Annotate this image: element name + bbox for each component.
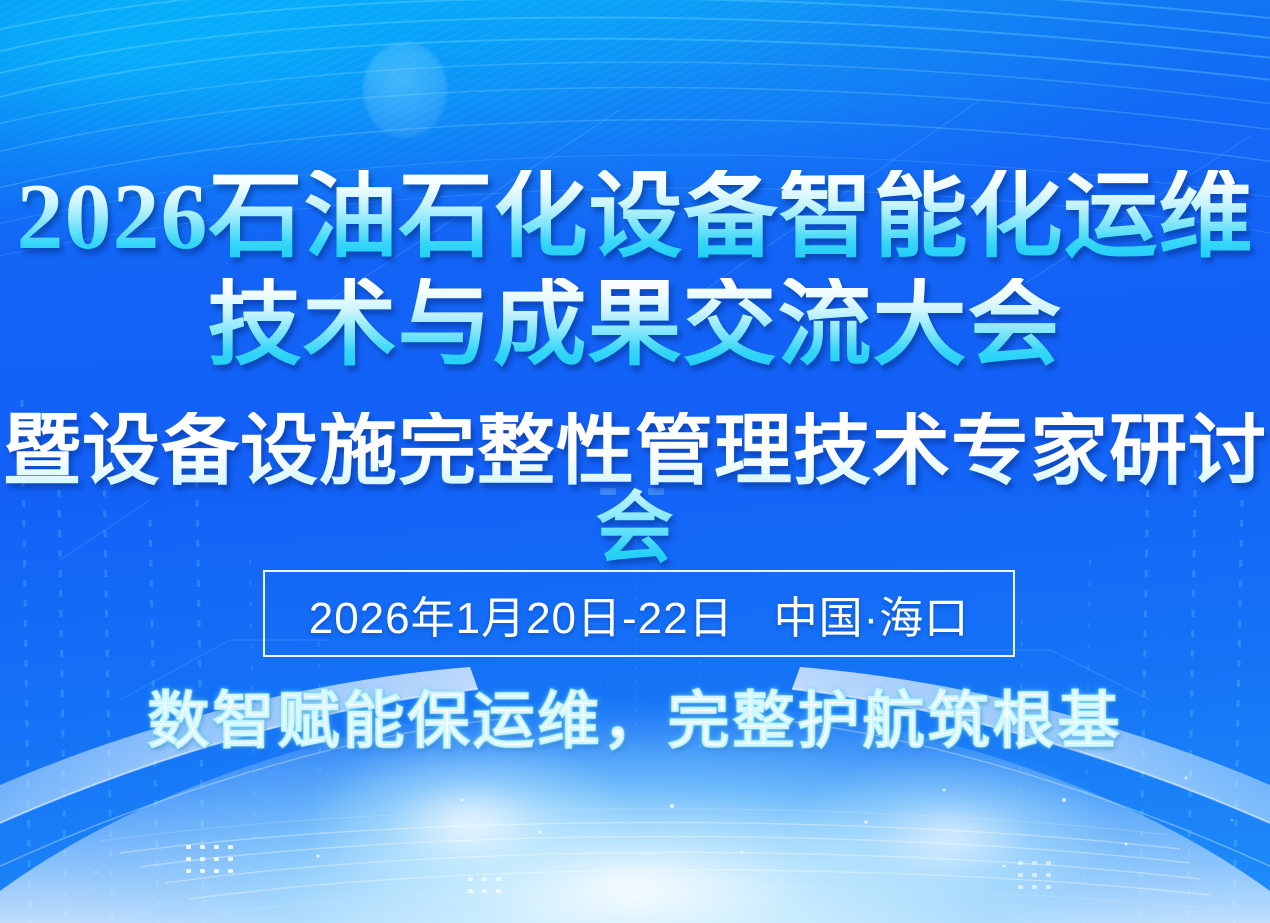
event-date: 2026年1月20日-22日 — [309, 582, 734, 646]
date-location-box: 2026年1月20日-22日 中国·海口 — [263, 570, 1015, 657]
main-title-line-2: 技术与成果交流大会 — [0, 278, 1270, 372]
poster-tagline: 数智赋能保运维，完整护航筑根基 — [0, 688, 1270, 756]
main-title-block: 2026石油石化设备智能化运维 技术与成果交流大会 — [0, 170, 1270, 372]
poster-content: 2026石油石化设备智能化运维 技术与成果交流大会 暨设备设施完整性管理技术专家… — [0, 0, 1270, 923]
poster-subtitle: 暨设备设施完整性管理技术专家研讨会 — [0, 412, 1270, 568]
main-title-line-1: 2026石油石化设备智能化运维 — [0, 170, 1270, 264]
event-location: 中国·海口 — [774, 582, 970, 646]
conference-poster: 2026石油石化设备智能化运维 技术与成果交流大会 暨设备设施完整性管理技术专家… — [0, 0, 1270, 923]
